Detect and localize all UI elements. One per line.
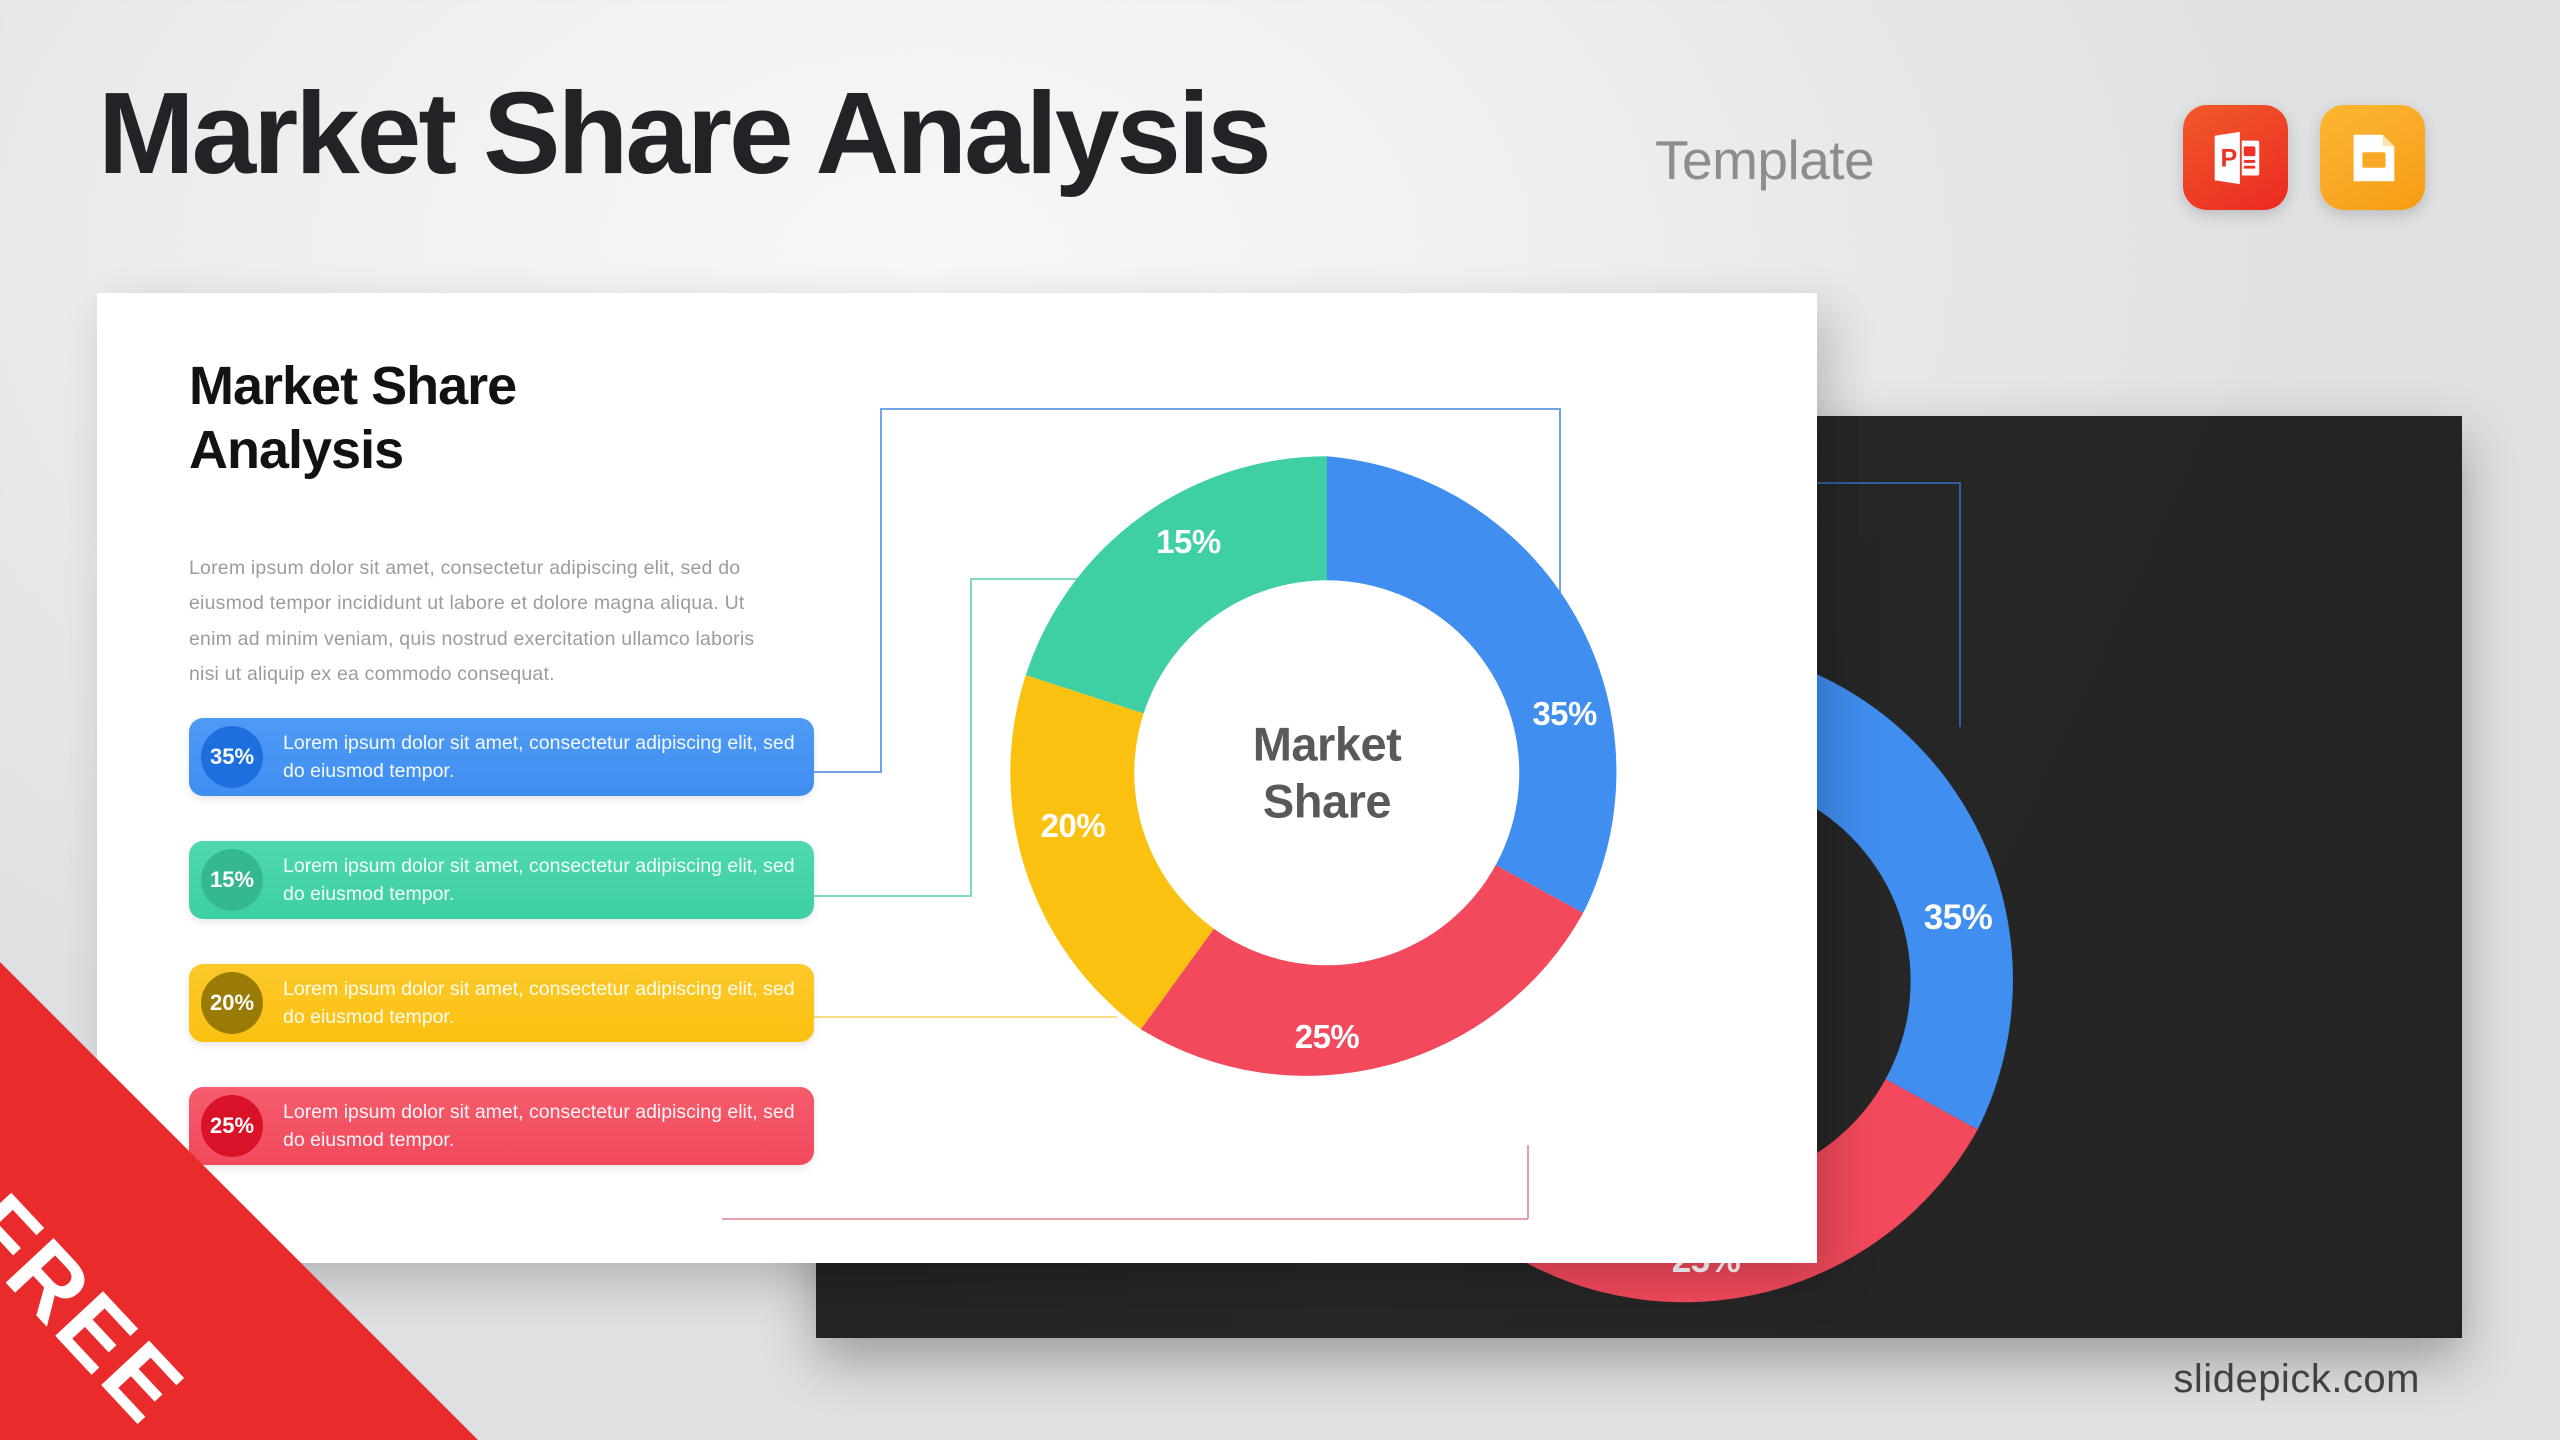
legend-badge-2: 15% (201, 849, 263, 911)
legend-item-2[interactable]: 15% Lorem ipsum dolor sit amet, consecte… (189, 841, 814, 919)
google-slides-icon[interactable] (2320, 105, 2425, 210)
connector-blue-left-vertical (880, 408, 882, 773)
slice-label-35: 35% (1532, 695, 1597, 733)
legend-badge-3: 20% (201, 972, 263, 1034)
powerpoint-icon[interactable]: P (2183, 105, 2288, 210)
page-title: Market Share Analysis (98, 75, 1269, 191)
legend-text-2: Lorem ipsum dolor sit amet, consectetur … (283, 852, 796, 909)
legend-text-1: Lorem ipsum dolor sit amet, consectetur … (283, 729, 796, 786)
slice-label-15: 15% (1156, 523, 1221, 561)
legend-item-1[interactable]: 35% Lorem ipsum dolor sit amet, consecte… (189, 718, 814, 796)
donut-center-text: Market Share (1253, 717, 1402, 830)
donut-chart[interactable]: Market Share 35% 25% 20% 15% (997, 443, 1657, 1103)
center-line1: Market (1253, 718, 1402, 771)
site-watermark: slidepick.com (2173, 1357, 2420, 1402)
light-slide-preview[interactable]: Market Share Analysis Lorem ipsum dolor … (97, 293, 1817, 1263)
slide-title-line2: Analysis (189, 420, 403, 480)
slide-title: Market Share Analysis (189, 355, 516, 482)
legend-percent-4: 25% (210, 1113, 254, 1139)
legend-text-4: Lorem ipsum dolor sit amet, consectetur … (283, 1098, 796, 1155)
connector-blue-top (880, 408, 1560, 410)
legend-item-3[interactable]: 20% Lorem ipsum dolor sit amet, consecte… (189, 964, 814, 1042)
legend-percent-1: 35% (210, 744, 254, 770)
slide-description: Lorem ipsum dolor sit amet, consectetur … (189, 551, 789, 693)
legend-badge-1: 35% (201, 726, 263, 788)
dark-slice-label-35: 35% (1924, 898, 1993, 938)
legend-percent-2: 15% (210, 867, 254, 893)
legend-text-3: Lorem ipsum dolor sit amet, consectetur … (283, 975, 796, 1032)
format-icon-group: P (2183, 105, 2425, 210)
svg-text:P: P (2220, 144, 2237, 172)
page-header: Market Share Analysis Template P (0, 0, 2560, 290)
legend-item-4[interactable]: 25% Lorem ipsum dolor sit amet, consecte… (189, 1087, 814, 1165)
slice-label-25: 25% (1295, 1018, 1360, 1056)
legend-list: 35% Lorem ipsum dolor sit amet, consecte… (189, 718, 814, 1210)
donut-center: Market Share (1134, 580, 1519, 965)
connector-red-bottom (722, 1218, 1528, 1220)
page-subtitle: Template (1655, 128, 1874, 192)
connector-green-left-vertical (970, 578, 972, 896)
center-line2: Share (1263, 774, 1391, 827)
slice-label-20: 20% (1041, 807, 1106, 845)
connector-red-vertical (1527, 1145, 1529, 1219)
legend-badge-4: 25% (201, 1095, 263, 1157)
legend-percent-3: 20% (210, 990, 254, 1016)
slide-title-line1: Market Share (189, 356, 516, 416)
